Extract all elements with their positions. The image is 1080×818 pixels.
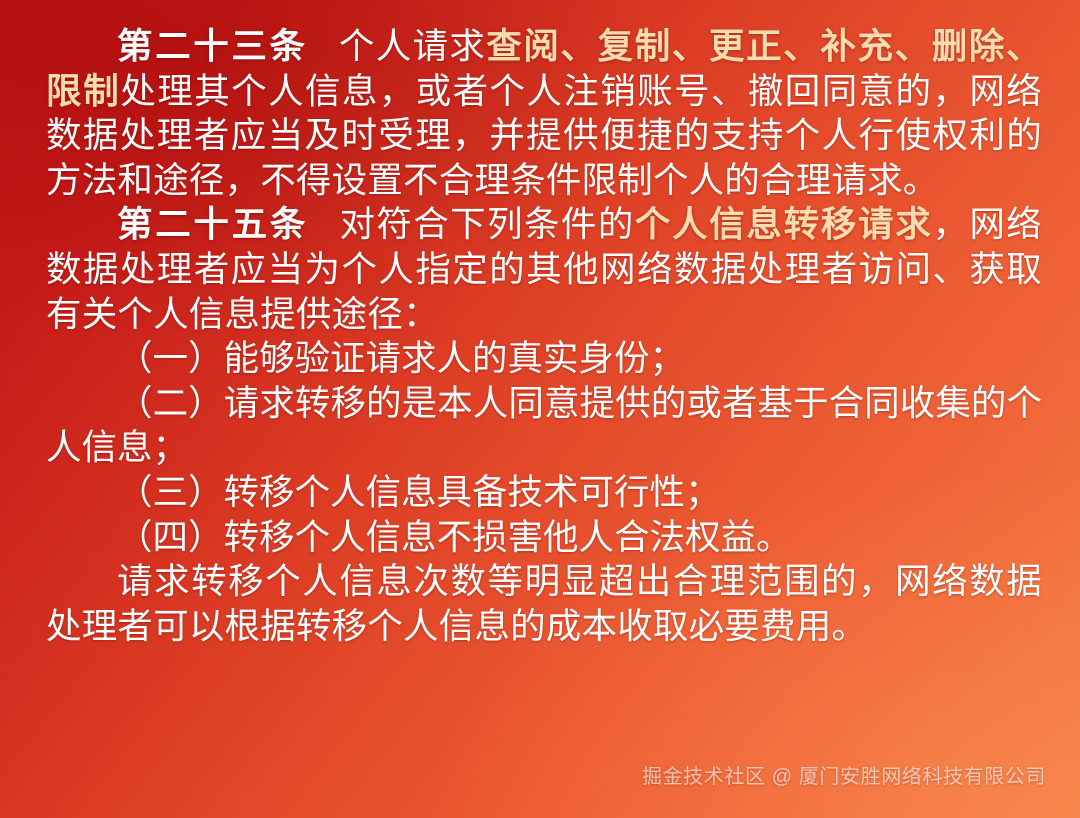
article-25-highlight: 个人信息转移请求: [635, 204, 933, 244]
list-item: （二）请求转移的是本人同意提供的或者基于合同收集的个人信息；: [46, 381, 1042, 470]
article-paragraph-23: 第二十三条个人请求查阅、复制、更正、补充、删除、限制处理其个人信息，或者个人注销…: [46, 24, 1042, 202]
list-item: （四）转移个人信息不损害他人合法权益。: [46, 515, 1042, 560]
list-item: （一）能够验证请求人的真实身份；: [46, 336, 1042, 381]
article-number-25: 第二十五条: [117, 204, 308, 244]
slide-content: 第二十三条个人请求查阅、复制、更正、补充、删除、限制处理其个人信息，或者个人注销…: [46, 24, 1042, 648]
list-item: （三）转移个人信息具备技术可行性；: [46, 470, 1042, 515]
article-23-text-before: 个人请求: [338, 26, 486, 66]
article-23-text-after: 处理其个人信息，或者个人注销账号、撤回同意的，网络数据处理者应当及时受理，并提供…: [46, 71, 1042, 200]
slide-canvas: 第二十三条个人请求查阅、复制、更正、补充、删除、限制处理其个人信息，或者个人注销…: [0, 0, 1080, 818]
closing-paragraph: 请求转移个人信息次数等明显超出合理范围的，网络数据处理者可以根据转移个人信息的成…: [46, 559, 1042, 648]
article-number-23: 第二十三条: [117, 26, 308, 66]
article-paragraph-25: 第二十五条对符合下列条件的个人信息转移请求，网络数据处理者应当为个人指定的其他网…: [46, 202, 1042, 336]
article-25-text-before: 对符合下列条件的: [338, 204, 635, 244]
footer-watermark: 掘金技术社区 @ 厦门安胜网络科技有限公司: [642, 764, 1046, 790]
